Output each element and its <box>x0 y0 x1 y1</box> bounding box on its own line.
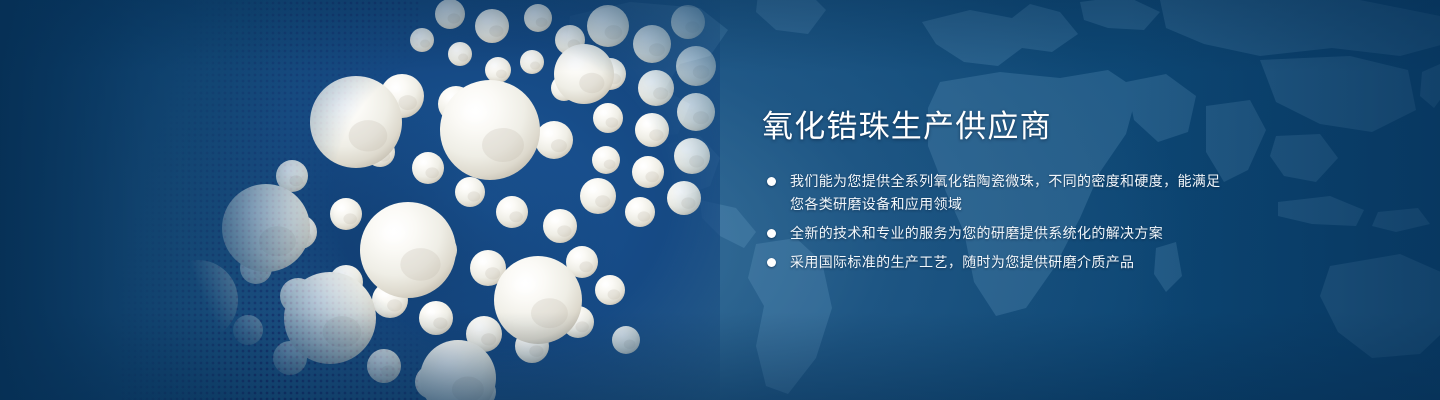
bullet-text: 全新的技术和专业的服务为您的研磨提供系统化的解决方案 <box>790 222 1232 245</box>
bullet-dot-icon <box>767 229 776 238</box>
list-item: 我们能为您提供全系列氧化锆陶瓷微珠，不同的密度和硬度，能满足您各类研磨设备和应用… <box>762 170 1232 216</box>
bullet-text: 采用国际标准的生产工艺，随时为您提供研磨介质产品 <box>790 251 1232 274</box>
feature-bullet-list: 我们能为您提供全系列氧化锆陶瓷微珠，不同的密度和硬度，能满足您各类研磨设备和应用… <box>762 170 1232 274</box>
bullet-dot-icon <box>767 177 776 186</box>
hero-banner: 氧化锆珠生产供应商 我们能为您提供全系列氧化锆陶瓷微珠，不同的密度和硬度，能满足… <box>0 0 1440 400</box>
bullet-dot-icon <box>767 258 776 267</box>
list-item: 全新的技术和专业的服务为您的研磨提供系统化的解决方案 <box>762 222 1232 245</box>
banner-headline: 氧化锆珠生产供应商 <box>762 108 1232 146</box>
banner-text-column: 氧化锆珠生产供应商 我们能为您提供全系列氧化锆陶瓷微珠，不同的密度和硬度，能满足… <box>762 108 1232 274</box>
bullet-text: 我们能为您提供全系列氧化锆陶瓷微珠，不同的密度和硬度，能满足您各类研磨设备和应用… <box>790 170 1232 216</box>
list-item: 采用国际标准的生产工艺，随时为您提供研磨介质产品 <box>762 251 1232 274</box>
